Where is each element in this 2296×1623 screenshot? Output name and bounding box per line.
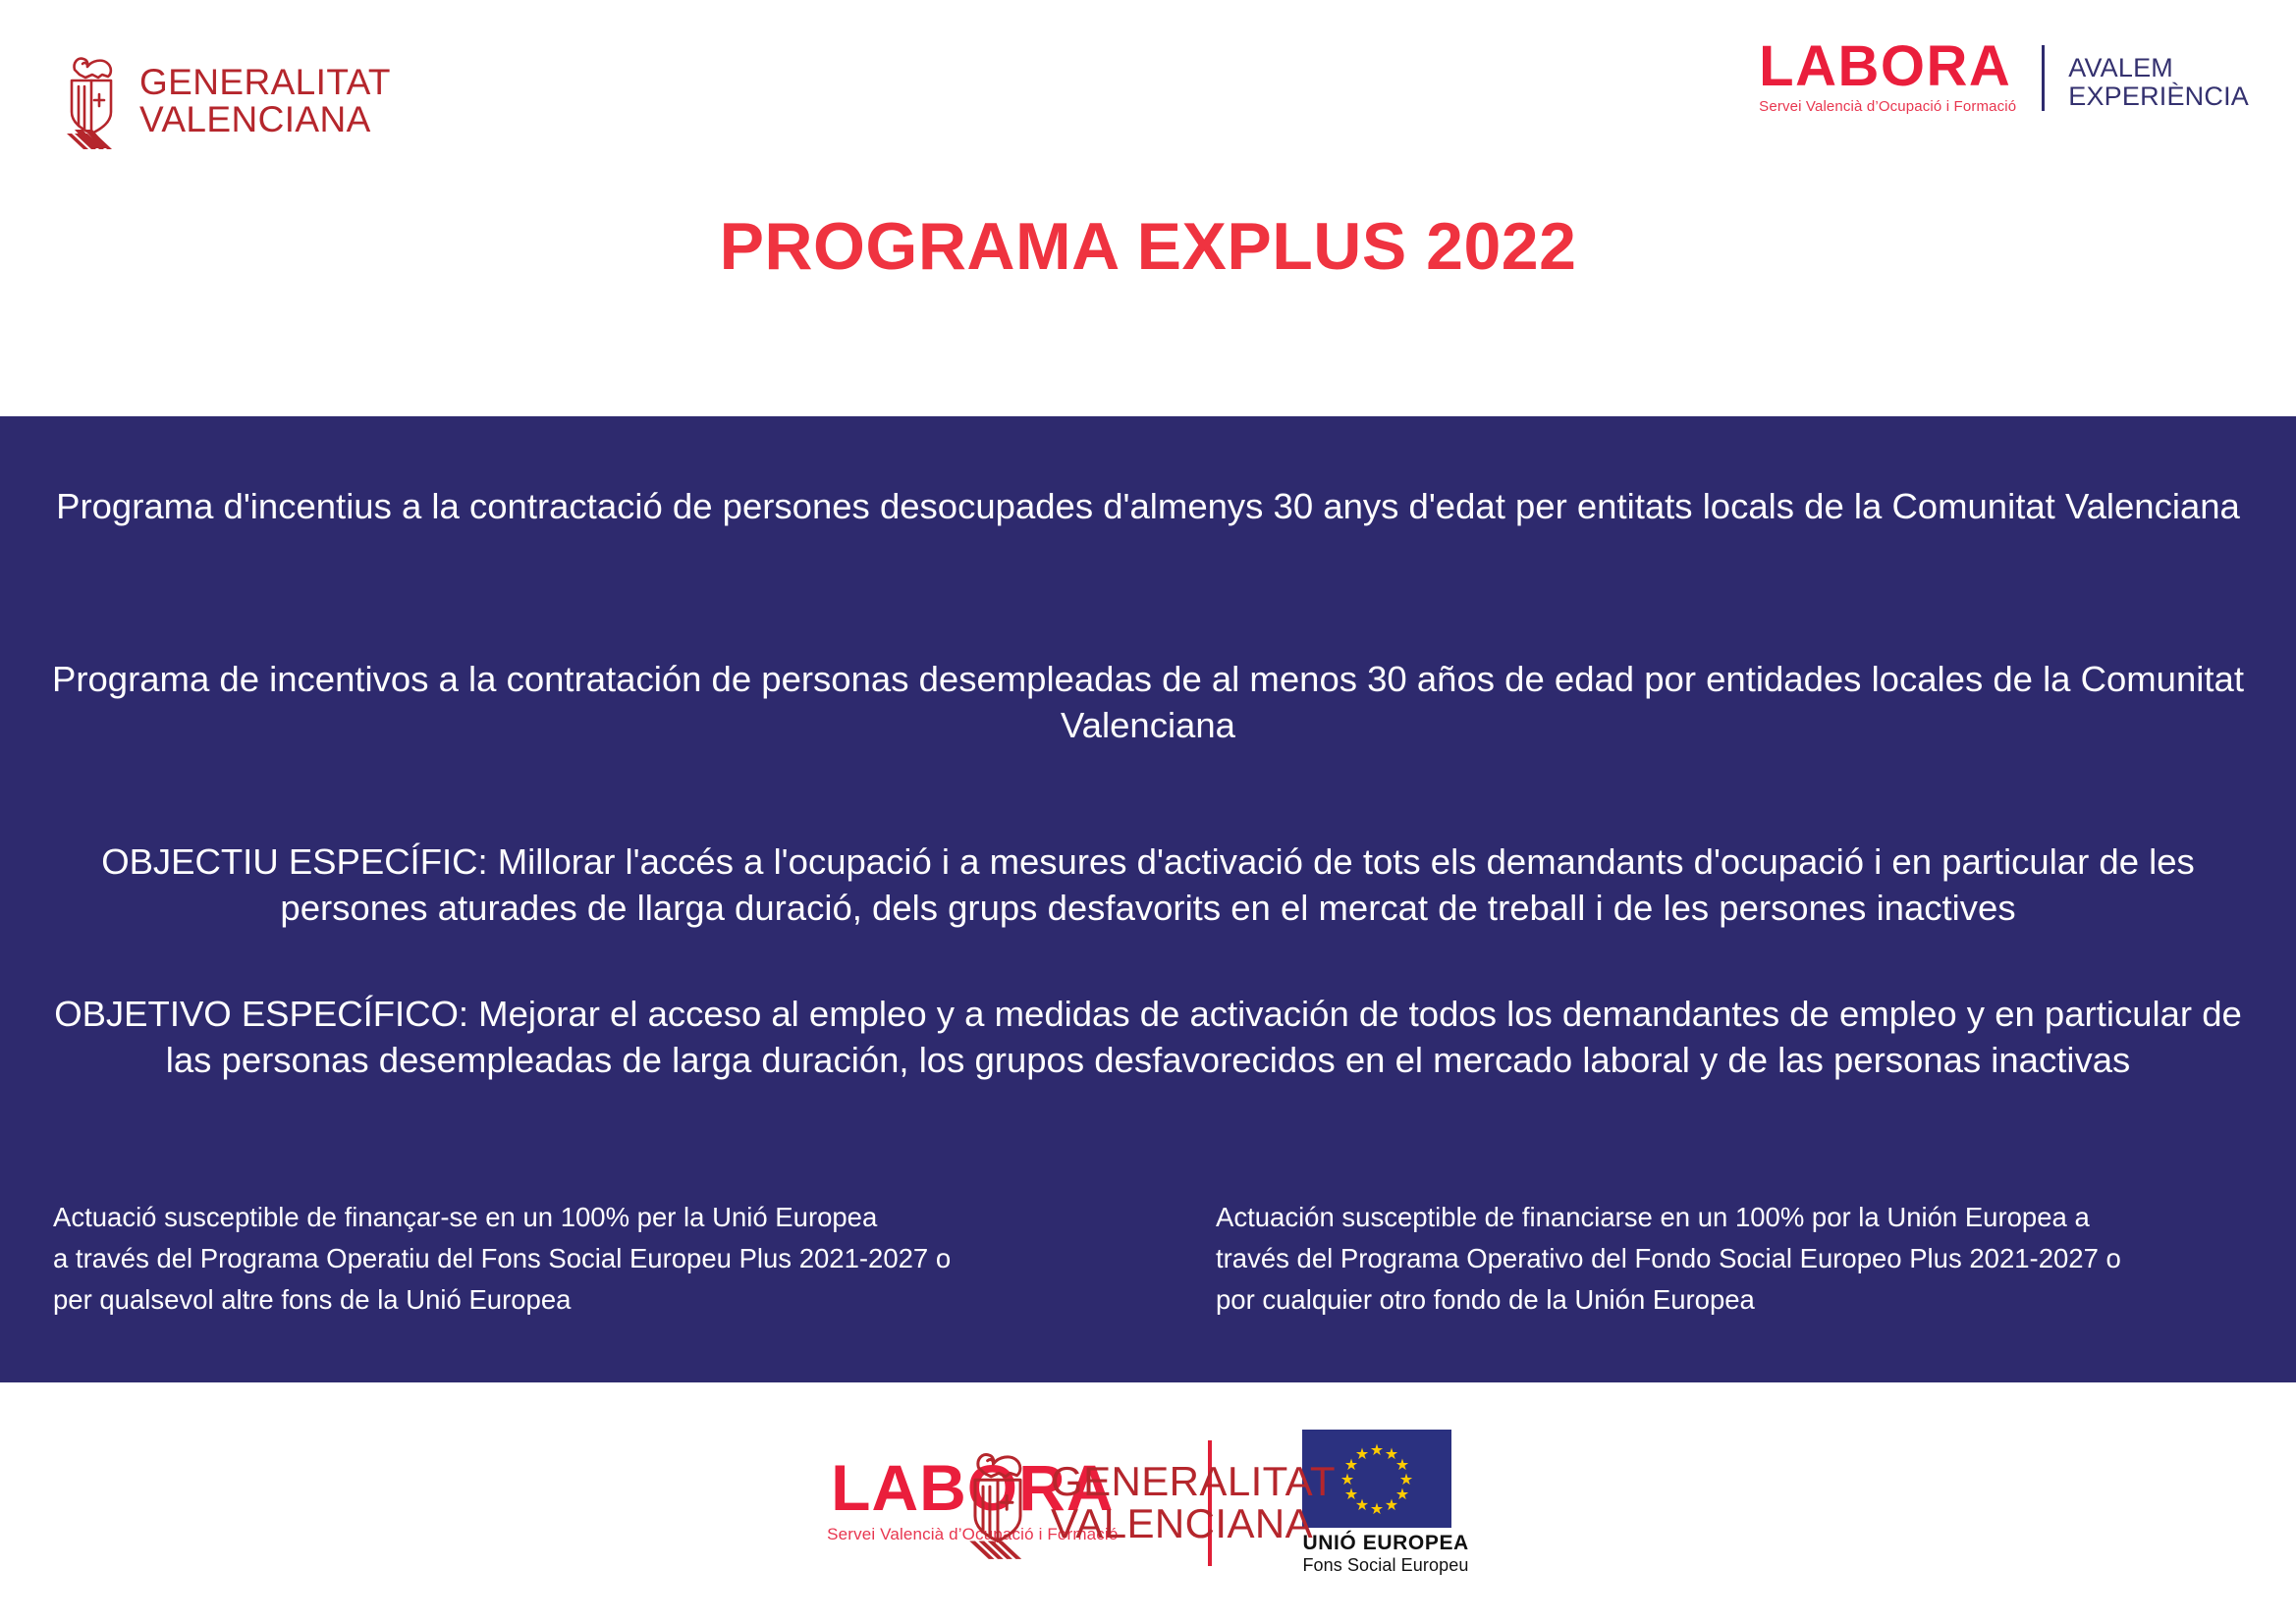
footer-logo-row: GENERALITAT VALENCIANA LABORA Servei Val… [0,1382,2296,1623]
generalitat-wordmark-line2: VALENCIANA [1051,1503,1336,1545]
content-band-inner: Programa d'incentius a la contractació d… [0,416,2296,1382]
footer-generalitat-wordmark: GENERALITAT VALENCIANA [1051,1461,1336,1545]
content-band: Programa d'incentius a la contractació d… [0,416,2296,1382]
header-labora-lockup: LABORA Servei Valencià d’Ocupació i Form… [1759,39,2249,117]
specific-objective-spanish: OBJETIVO ESPECÍFICO: Mejorar el acceso a… [41,991,2255,1084]
generalitat-valenciana-shield-icon [960,1441,1035,1564]
footer-region: GENERALITAT VALENCIANA LABORA Servei Val… [0,1382,2296,1623]
generalitat-wordmark-line1: GENERALITAT [1051,1461,1336,1503]
poster-canvas: GENERALITAT VALENCIANA LABORA Servei Val… [0,0,2296,1623]
header-generalitat-logo: GENERALITAT VALENCIANA [59,47,391,154]
header-generalitat-wordmark: GENERALITAT VALENCIANA [139,64,391,137]
avalem-experiencia-logo: AVALEM EXPERIÈNCIA [2045,39,2249,117]
programme-description-valencian: Programa d'incentius a la contractació d… [41,483,2255,529]
funding-notes-row: Actuació susceptible de finançar-se en u… [41,1197,2255,1320]
generalitat-wordmark-line1: GENERALITAT [139,64,391,101]
programme-description-spanish: Programa de incentivos a la contratación… [41,656,2255,749]
avalem-line1: AVALEM [2068,54,2249,82]
header-labora-logo: LABORA Servei Valencià d’Ocupació i Form… [1759,39,2042,117]
page-title: PROGRAMA EXPLUS 2022 [0,208,2296,285]
labora-tagline: Servei Valencià d’Ocupació i Formació [1759,98,2016,115]
labora-wordmark: LABORA [1759,39,2011,93]
footer-generalitat-logo: GENERALITAT VALENCIANA [960,1441,1336,1564]
avalem-line2: EXPERIÈNCIA [2068,82,2249,111]
generalitat-valenciana-shield-icon [59,47,124,154]
funding-note-valencian: Actuació susceptible de finançar-se en u… [41,1197,1092,1320]
header-region: GENERALITAT VALENCIANA LABORA Servei Val… [0,0,2296,416]
specific-objective-valencian: OBJECTIU ESPECÍFIC: Millorar l'accés a l… [41,839,2255,932]
generalitat-wordmark-line2: VALENCIANA [139,101,391,138]
funding-note-spanish: Actuación susceptible de financiarse en … [1169,1197,2255,1320]
